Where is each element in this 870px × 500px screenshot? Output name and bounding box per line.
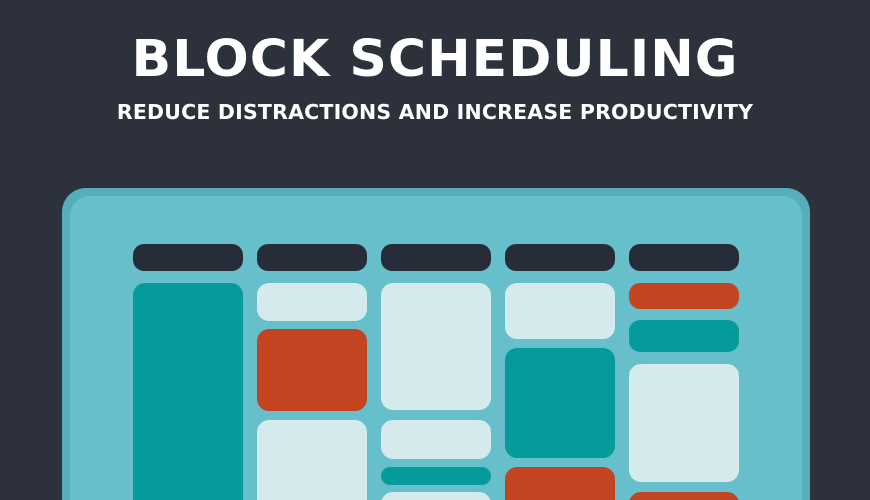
- column-5-header-block: [629, 244, 739, 271]
- column-5-orange-block-1[interactable]: [629, 283, 739, 309]
- column-2-header-block: [257, 244, 367, 271]
- calendar-panel: [70, 196, 802, 500]
- column-3-teal-block-3[interactable]: [381, 467, 491, 485]
- column-2-light-block-3[interactable]: [257, 420, 367, 500]
- column-3-light-block-2[interactable]: [381, 420, 491, 459]
- column-1-header-block: [133, 244, 243, 271]
- column-1-teal-block-1[interactable]: [133, 283, 243, 500]
- column-5: [629, 196, 739, 500]
- column-5-orange-block-4[interactable]: [629, 492, 739, 500]
- page-title: BLOCK SCHEDULING: [0, 34, 870, 85]
- column-5-teal-block-2[interactable]: [629, 320, 739, 352]
- column-2-light-block-1[interactable]: [257, 283, 367, 321]
- column-4-light-block-1[interactable]: [505, 283, 615, 339]
- column-3: [381, 196, 491, 500]
- column-3-light-block-1[interactable]: [381, 283, 491, 410]
- infographic-canvas: BLOCK SCHEDULING REDUCE DISTRACTIONS AND…: [0, 0, 870, 500]
- column-2-orange-block-2[interactable]: [257, 329, 367, 411]
- column-3-header-block: [381, 244, 491, 271]
- column-4-orange-block-3[interactable]: [505, 467, 615, 500]
- column-4: [505, 196, 615, 500]
- page-subtitle: REDUCE DISTRACTIONS AND INCREASE PRODUCT…: [0, 85, 870, 123]
- column-4-teal-block-2[interactable]: [505, 348, 615, 458]
- column-5-light-block-3[interactable]: [629, 364, 739, 482]
- column-3-light-block-4[interactable]: [381, 492, 491, 500]
- column-2: [257, 196, 367, 500]
- column-4-header-block: [505, 244, 615, 271]
- column-1: [133, 196, 243, 500]
- header-group: BLOCK SCHEDULING REDUCE DISTRACTIONS AND…: [0, 34, 870, 123]
- schedule-grid: [70, 196, 802, 500]
